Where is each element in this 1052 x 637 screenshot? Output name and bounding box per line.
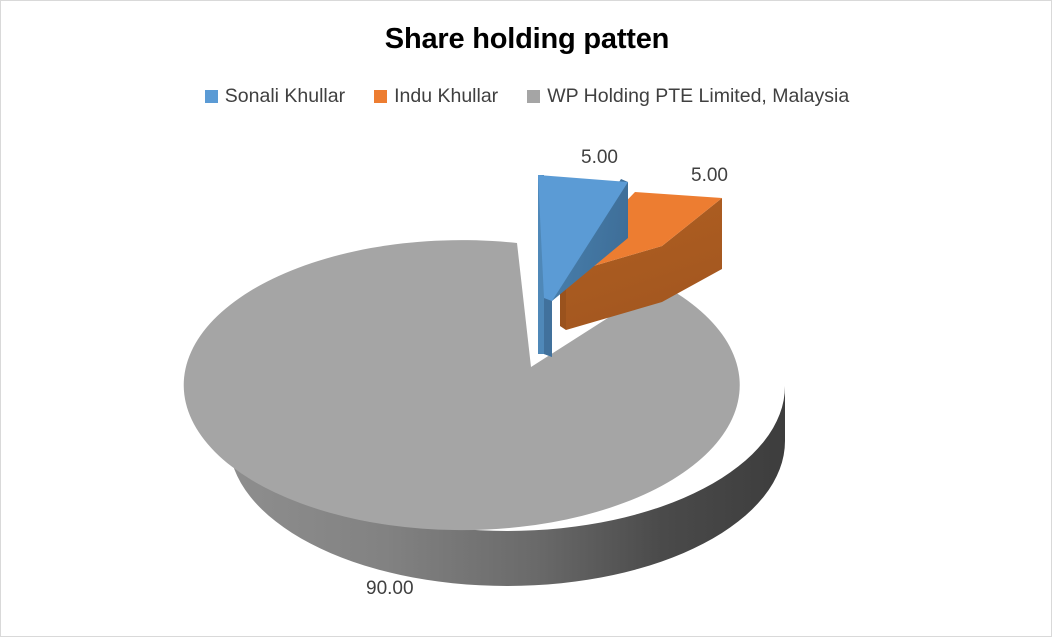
pie-slice-wp-holding[interactable] <box>184 240 785 586</box>
pie-slice-sonali-khullar-front <box>544 298 552 357</box>
chart-container: Share holding patten Sonali Khullar Indu… <box>0 0 1052 637</box>
data-label-wp-holding: 90.00 <box>366 578 414 600</box>
pie-chart-graphic <box>1 1 1052 637</box>
data-label-sonali-khullar: 5.00 <box>581 147 618 169</box>
data-label-indu-khullar: 5.00 <box>691 165 728 187</box>
